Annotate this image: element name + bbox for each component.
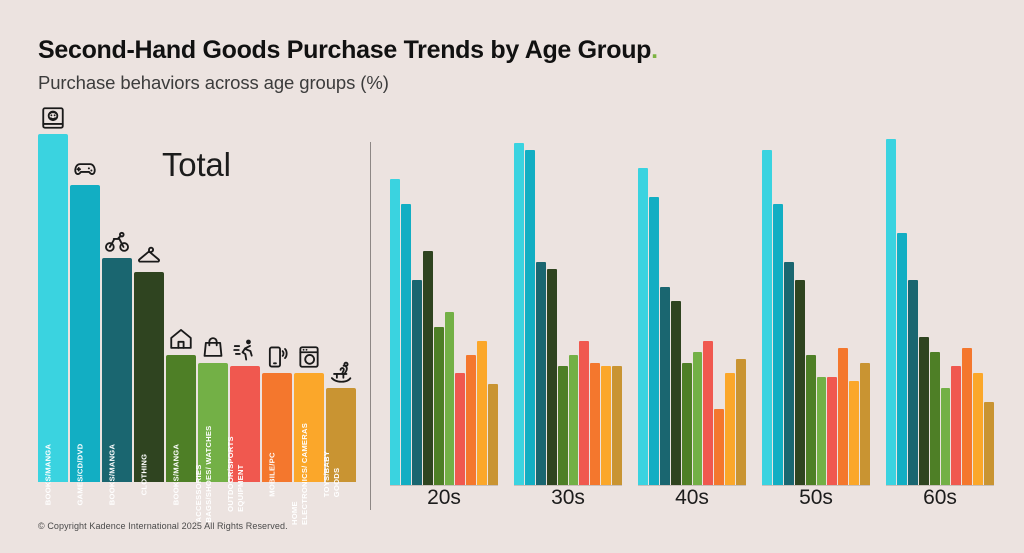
total-bar-label: HOMEELECTRONICS/ CAMERAS — [290, 423, 309, 525]
group-bar — [401, 204, 411, 485]
group-bar — [973, 373, 983, 485]
age-group-30s — [514, 125, 622, 485]
axis-label-50s: 50s — [762, 486, 870, 516]
rocking-horse-icon — [328, 359, 354, 385]
total-bar: GAMES/CD/DVD — [70, 185, 100, 482]
total-bar-item: OUTDOOR/SPORTSEQUIPMENT — [230, 120, 260, 482]
group-bar — [941, 388, 951, 485]
group-bar — [558, 366, 568, 485]
total-bar-label: BOOKS/MANGA — [44, 443, 54, 504]
group-bar — [703, 341, 713, 485]
group-bar — [455, 373, 465, 485]
group-bar — [817, 377, 827, 485]
washing-machine-icon — [296, 344, 322, 370]
total-bar-label: GAMES/CD/DVD — [76, 443, 86, 505]
total-bar-item: BOOKS/MANGA — [38, 120, 68, 482]
panel-divider — [370, 142, 371, 510]
group-bar — [984, 402, 994, 485]
total-bar-item: HOMEELECTRONICS/ CAMERAS — [294, 120, 324, 482]
total-bar: TOYS/BABYGOODS — [326, 388, 356, 482]
group-bar — [860, 363, 870, 485]
group-bar — [795, 280, 805, 485]
running-person-icon — [232, 337, 258, 363]
total-bar-item: ACCESSORIESBAGS/SHOES/ WATCHES — [198, 120, 228, 482]
clothes-hanger-icon — [136, 243, 162, 269]
age-group-20s — [390, 125, 498, 485]
total-bar: ACCESSORIESBAGS/SHOES/ WATCHES — [198, 363, 228, 482]
group-bar — [773, 204, 783, 485]
total-bar: BOOKS/MANGA — [38, 134, 68, 482]
group-bars — [762, 125, 870, 485]
group-bar — [525, 150, 535, 485]
group-bar — [962, 348, 972, 485]
age-group-axis-labels: 20s30s40s50s60s — [390, 486, 994, 516]
bicycle-icon — [104, 229, 130, 255]
group-bars — [390, 125, 498, 485]
shopping-bag-icon — [200, 334, 226, 360]
page-title-text: Second-Hand Goods Purchase Trends by Age… — [38, 36, 651, 64]
page-title: Second-Hand Goods Purchase Trends by Age… — [38, 36, 658, 65]
group-bar — [725, 373, 735, 485]
total-bar: MOBILE/PC — [262, 373, 292, 482]
group-bar — [477, 341, 487, 485]
total-bar-item: TOYS/BABYGOODS — [326, 120, 356, 482]
total-bar-label: BOOKS/MANGA — [108, 443, 118, 504]
axis-label-40s: 40s — [638, 486, 746, 516]
group-bar — [682, 363, 692, 485]
total-bar-item: CLOTHING — [134, 120, 164, 482]
page-title-accent-dot: . — [651, 36, 658, 64]
total-bar: CLOTHING — [134, 272, 164, 482]
group-bar — [423, 251, 433, 485]
total-bar-label: MOBILE/PC — [268, 452, 278, 496]
house-icon — [168, 326, 194, 352]
group-bar — [601, 366, 611, 485]
book-icon — [40, 105, 66, 131]
group-bar — [827, 377, 837, 485]
group-bar — [612, 366, 622, 485]
group-bar — [590, 363, 600, 485]
page-subtitle: Purchase behaviors across age groups (%) — [38, 72, 658, 94]
total-bar-label: ACCESSORIESBAGS/SHOES/ WATCHES — [194, 425, 213, 522]
group-bar — [714, 409, 724, 485]
group-bar — [951, 366, 961, 485]
total-bar-label: BOOKS/MANGA — [172, 443, 182, 504]
group-bar — [660, 287, 670, 485]
group-bar — [930, 352, 940, 485]
group-bar — [838, 348, 848, 485]
group-bar — [649, 197, 659, 485]
group-bar — [536, 262, 546, 485]
mobile-phone-icon — [264, 344, 290, 370]
group-bar — [671, 301, 681, 485]
group-bar — [412, 280, 422, 485]
age-group-60s — [886, 125, 994, 485]
total-bar-group: BOOKS/MANGAGAMES/CD/DVDBOOKS/MANGACLOTHI… — [38, 120, 356, 482]
total-bar-item: GAMES/CD/DVD — [70, 120, 100, 482]
group-bar — [547, 269, 557, 485]
group-bar — [693, 352, 703, 485]
group-bars — [514, 125, 622, 485]
group-bar — [390, 179, 400, 485]
age-group-bar-chart — [390, 125, 994, 485]
age-group-50s — [762, 125, 870, 485]
group-bar — [466, 355, 476, 485]
header: Second-Hand Goods Purchase Trends by Age… — [38, 36, 658, 94]
group-bar — [806, 355, 816, 485]
group-bar — [569, 355, 579, 485]
axis-label-20s: 20s — [390, 486, 498, 516]
group-bar — [736, 359, 746, 485]
age-group-40s — [638, 125, 746, 485]
total-bar-item: BOOKS/MANGA — [166, 120, 196, 482]
total-bar-label: TOYS/BABYGOODS — [322, 451, 341, 497]
group-bars — [638, 125, 746, 485]
total-bar-item: BOOKS/MANGA — [102, 120, 132, 482]
group-bar — [849, 381, 859, 485]
total-bar: BOOKS/MANGA — [102, 258, 132, 482]
game-controller-icon — [72, 156, 98, 182]
group-bar — [762, 150, 772, 485]
group-bar — [514, 143, 524, 485]
group-bar — [434, 327, 444, 485]
axis-label-60s: 60s — [886, 486, 994, 516]
total-chart-panel: Total BOOKS/MANGAGAMES/CD/DVDBOOKS/MANGA… — [38, 120, 358, 482]
total-bar: BOOKS/MANGA — [166, 355, 196, 482]
total-bar-label: OUTDOOR/SPORTSEQUIPMENT — [226, 436, 245, 512]
group-bar — [784, 262, 794, 485]
group-bar — [897, 233, 907, 485]
group-bar — [908, 280, 918, 485]
group-bar — [445, 312, 455, 485]
group-bar — [488, 384, 498, 485]
axis-label-30s: 30s — [514, 486, 622, 516]
group-bars — [886, 125, 994, 485]
group-bar — [579, 341, 589, 485]
group-bar — [638, 168, 648, 485]
copyright-footer: © Copyright Kadence International 2025 A… — [38, 521, 288, 531]
infographic-page: Second-Hand Goods Purchase Trends by Age… — [0, 0, 1024, 553]
total-bar: HOMEELECTRONICS/ CAMERAS — [294, 373, 324, 482]
group-bar — [886, 139, 896, 485]
total-bar-label: CLOTHING — [140, 453, 150, 495]
group-bar — [919, 337, 929, 485]
total-bar-item: MOBILE/PC — [262, 120, 292, 482]
total-bar: OUTDOOR/SPORTSEQUIPMENT — [230, 366, 260, 482]
